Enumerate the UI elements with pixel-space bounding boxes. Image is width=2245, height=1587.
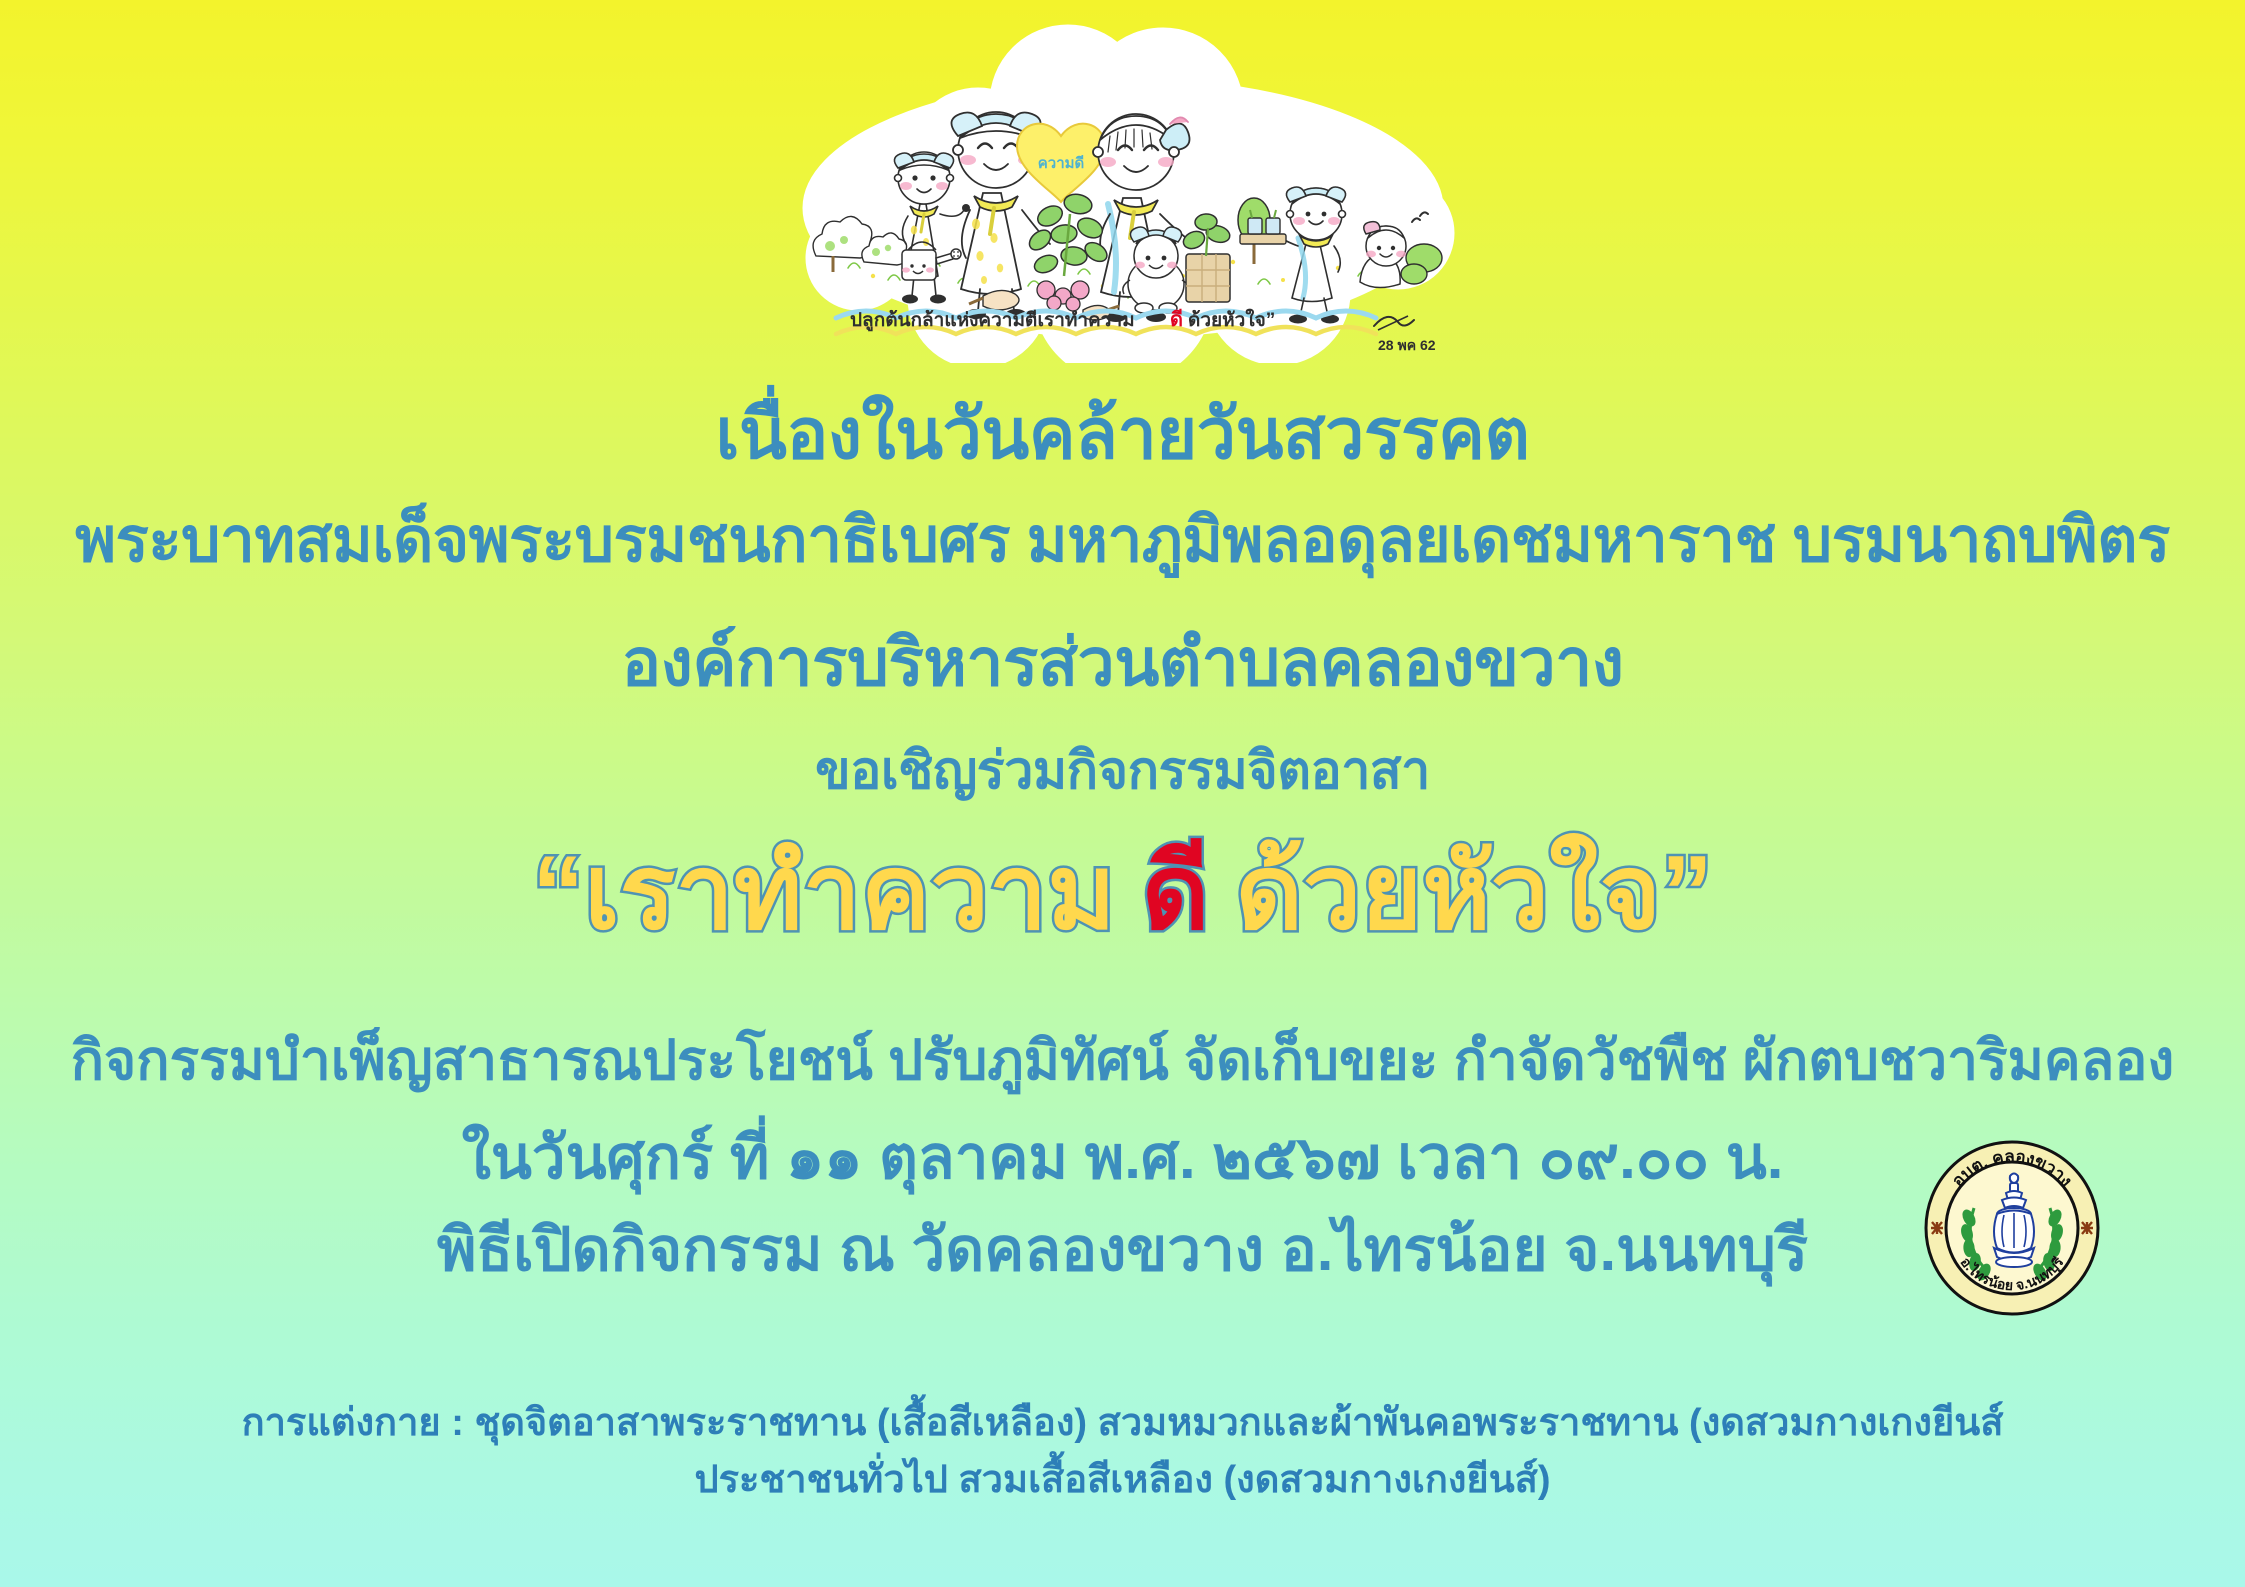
signature-date-text: 28 พค 62 <box>1378 337 1436 353</box>
event-datetime: ในวันศุกร์ ที่ ๑๑ ตุลาคม พ.ศ. ๒๕๖๗ เวลา … <box>0 1126 2245 1189</box>
slogan-open-quote: “ <box>532 835 584 951</box>
king-title-heading: พระบาทสมเด็จพระบรมชนกาธิเบศร มหาภูมิพลอด… <box>0 508 2245 573</box>
caption-plain-text: ปลูกต้นกล้าแห่งความดี <box>850 309 1037 332</box>
slogan-close-quote: ” <box>1661 835 1713 951</box>
svg-text:ด้วยหัวใจ”: ด้วยหัวใจ” <box>1188 308 1275 331</box>
slogan-part-2: ด้วยหัวใจ <box>1235 835 1661 951</box>
official-seal: อบต. คลองขวาง อ.ไทรน้อย จ.นนทบุรี <box>1922 1138 2102 1318</box>
svg-text:ความดี: ความดี <box>1037 155 1084 172</box>
subdistrict-administrative-organization-seal: อบต. คลองขวาง อ.ไทรน้อย จ.นนทบุรี <box>1922 1138 2102 1318</box>
slogan-highlight-word: ดี <box>1142 835 1210 951</box>
announcement-poster: ความดี <box>0 0 2245 1587</box>
organization-heading: องค์การบริหารส่วนตำบลคลองขวาง <box>0 628 2245 697</box>
artist-signature: 28 พค 62 <box>1374 316 1436 353</box>
activity-description: กิจกรรมบำเพ็ญสาธารณประโยชน์ ปรับภูมิทัศน… <box>0 1032 2245 1090</box>
slogan-part-1: เราทำความ <box>584 835 1116 951</box>
event-venue: พิธีเปิดกิจกรรม ณ วัดคลองขวาง อ.ไทรน้อย … <box>0 1218 2245 1281</box>
volunteer-children-planting-illustration: ความดี <box>778 18 1468 363</box>
header-illustration: ความดี <box>0 18 2245 368</box>
occasion-heading: เนื่องในวันคล้ายวันสวรรคต <box>0 398 2245 472</box>
svg-text:ดี: ดี <box>1170 308 1183 331</box>
invitation-heading: ขอเชิญร่วมกิจกรรมจิตอาสา <box>0 744 2245 799</box>
slogan-banner: “เราทำความดีด้วยหัวใจ” <box>0 836 2245 950</box>
dress-code-line-2: ประชาชนทั่วไป สวมเสื้อสีเหลือง (งดสวมกาง… <box>0 1461 2245 1501</box>
svg-text:“เราทำความ: “เราทำความ <box>1028 310 1135 331</box>
dress-code-line-1: การแต่งกาย : ชุดจิตอาสาพระราชทาน (เสื้อส… <box>0 1404 2245 1444</box>
